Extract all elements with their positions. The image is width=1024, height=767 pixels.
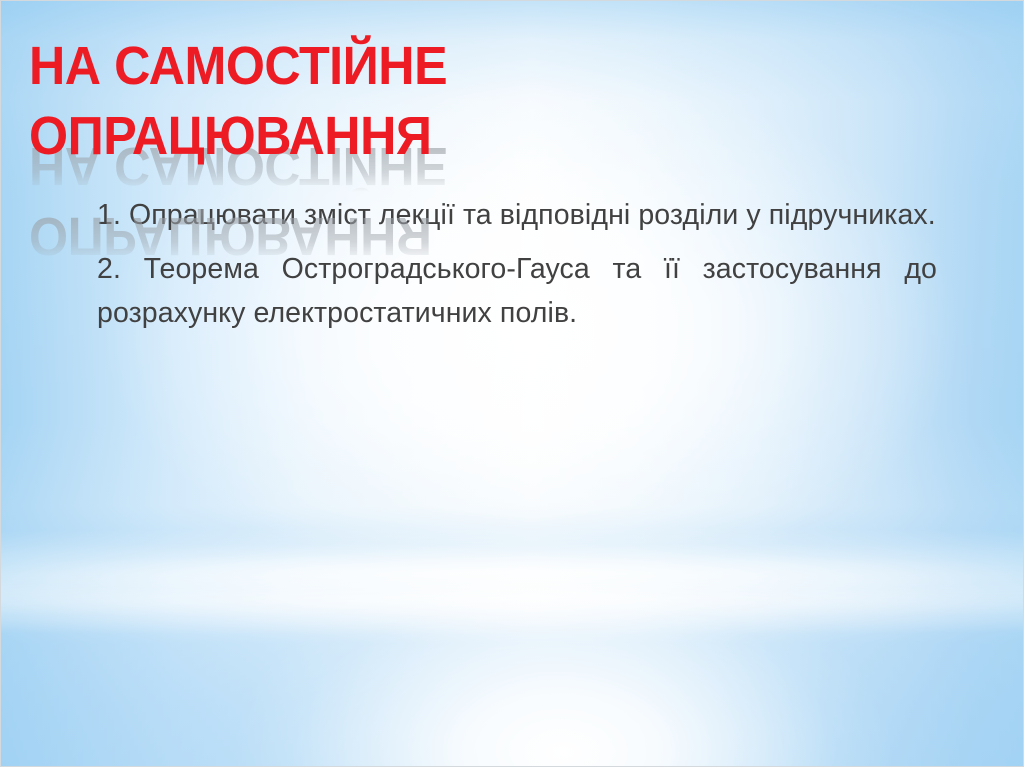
slide-title: НА САМОСТІЙНЕ НА САМОСТІЙНЕ ОПРАЦЮВАННЯ …	[29, 39, 789, 171]
title-line-2-reflection: ОПРАЦЮВАННЯ	[29, 209, 432, 263]
title-line-1-text: НА САМОСТІЙНЕ	[29, 39, 447, 93]
title-line-2: ОПРАЦЮВАННЯ ОПРАЦЮВАННЯ	[29, 109, 789, 171]
presentation-slide: НА САМОСТІЙНЕ НА САМОСТІЙНЕ ОПРАЦЮВАННЯ …	[0, 0, 1024, 767]
title-line-1: НА САМОСТІЙНЕ НА САМОСТІЙНЕ	[29, 39, 789, 101]
title-line-2-text: ОПРАЦЮВАННЯ	[29, 109, 432, 163]
